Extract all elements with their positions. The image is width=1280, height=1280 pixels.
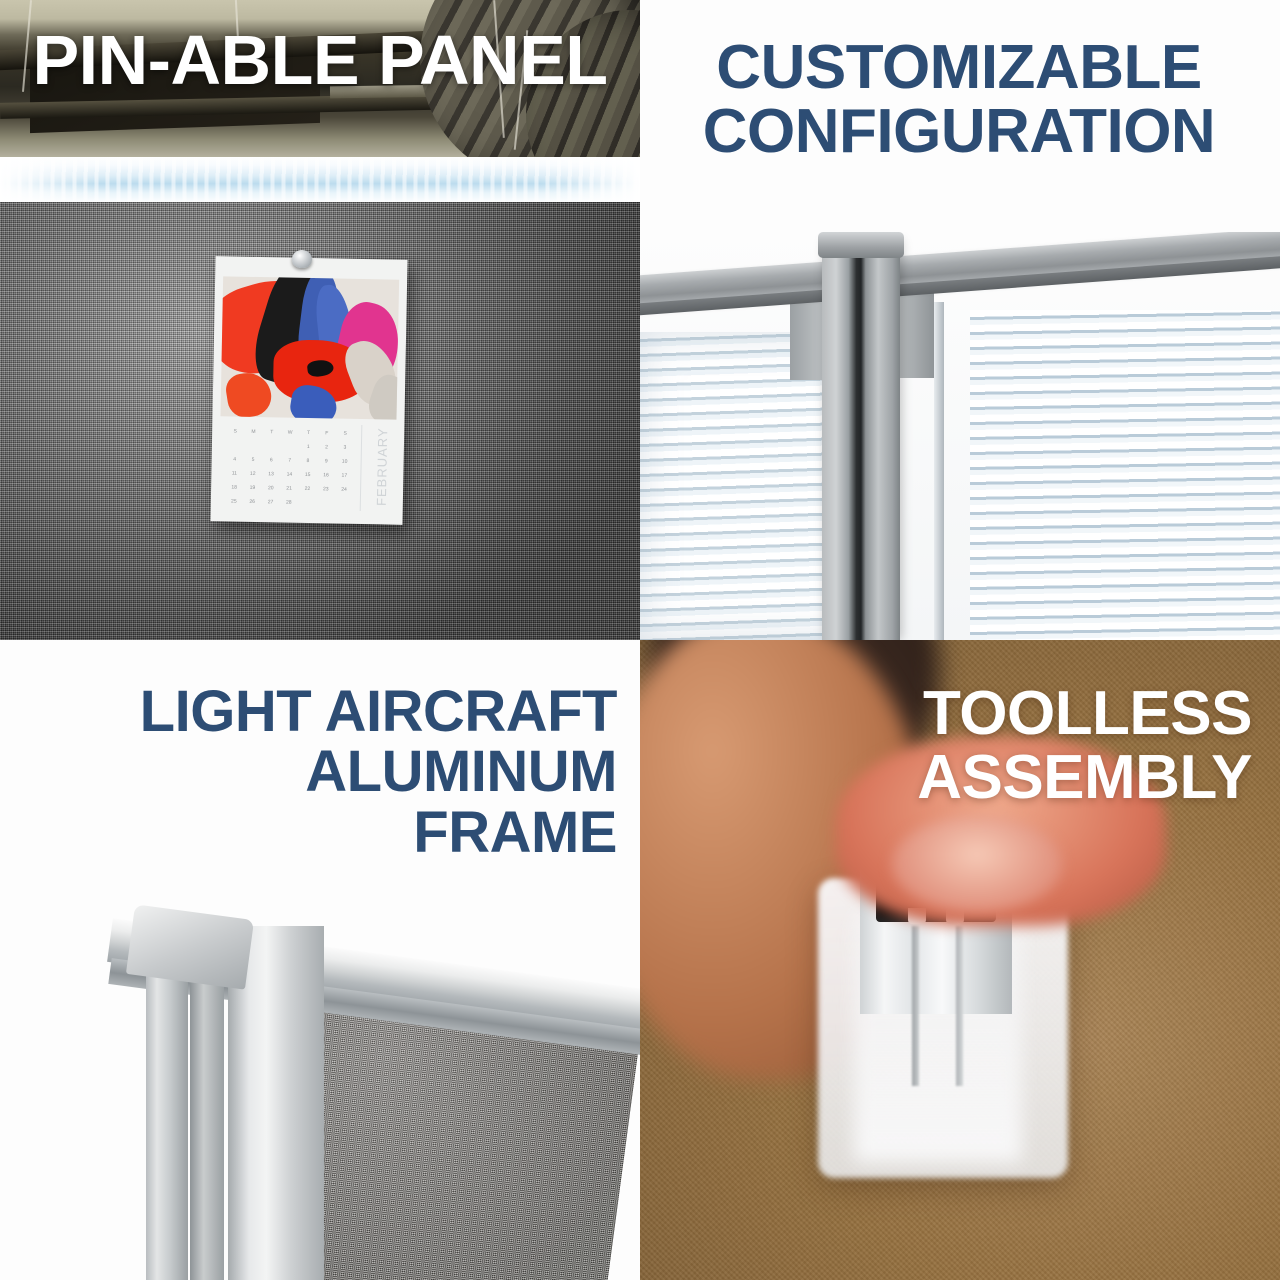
person-fingertip [892,816,1062,912]
post-cap [818,232,904,258]
extrusion-groove-left [912,926,919,1086]
feature-panel-toolless-assembly: TOOLLESS ASSEMBLY [640,640,1280,1280]
rail-highlight-right [540,157,640,203]
pinned-calendar: FEBRUARY SM TW TF S 12 3 45 67 89 [210,256,407,525]
calendar-date-grid: SM TW TF S 12 3 45 67 89 10 [227,428,352,506]
feature-headline-customizable-configuration: CUSTOMIZABLE CONFIGURATION [668,36,1250,165]
calendar-month-label: FEBRUARY [374,427,391,506]
feature-panel-pin-able-panel: FEBRUARY SM TW TF S 12 3 45 67 89 [0,0,640,640]
feature-headline-pin-able-panel: PIN-ABLE PANEL [0,24,640,97]
window-blinds-photo [640,232,1280,640]
feature-panel-customizable-configuration: CUSTOMIZABLE CONFIGURATION [640,0,1280,640]
glass-panel-edge [934,302,944,640]
feature-collage: FEBRUARY SM TW TF S 12 3 45 67 89 [0,0,1280,1280]
push-pin-icon [292,250,312,268]
feature-headline-toolless-assembly: TOOLLESS ASSEMBLY [670,682,1252,811]
calendar-week-row: 2526 2728 [227,498,351,514]
aluminum-connector-post [822,240,900,640]
frame-bracket-right [894,284,934,378]
feature-panel-light-aircraft-aluminum-frame: LIGHT AIRCRAFT ALUMINUM FRAME [0,640,640,1280]
window-blinds-right [970,310,1280,640]
frame-side-post [190,952,224,1280]
frame-outer-post [146,940,188,1280]
extrusion-groove-right [956,926,963,1086]
calendar-artwork [220,276,399,419]
rail-highlight-left [0,157,100,203]
calendar-divider [360,425,363,511]
feature-headline-light-aircraft-aluminum-frame: LIGHT AIRCRAFT ALUMINUM FRAME [40,682,617,863]
